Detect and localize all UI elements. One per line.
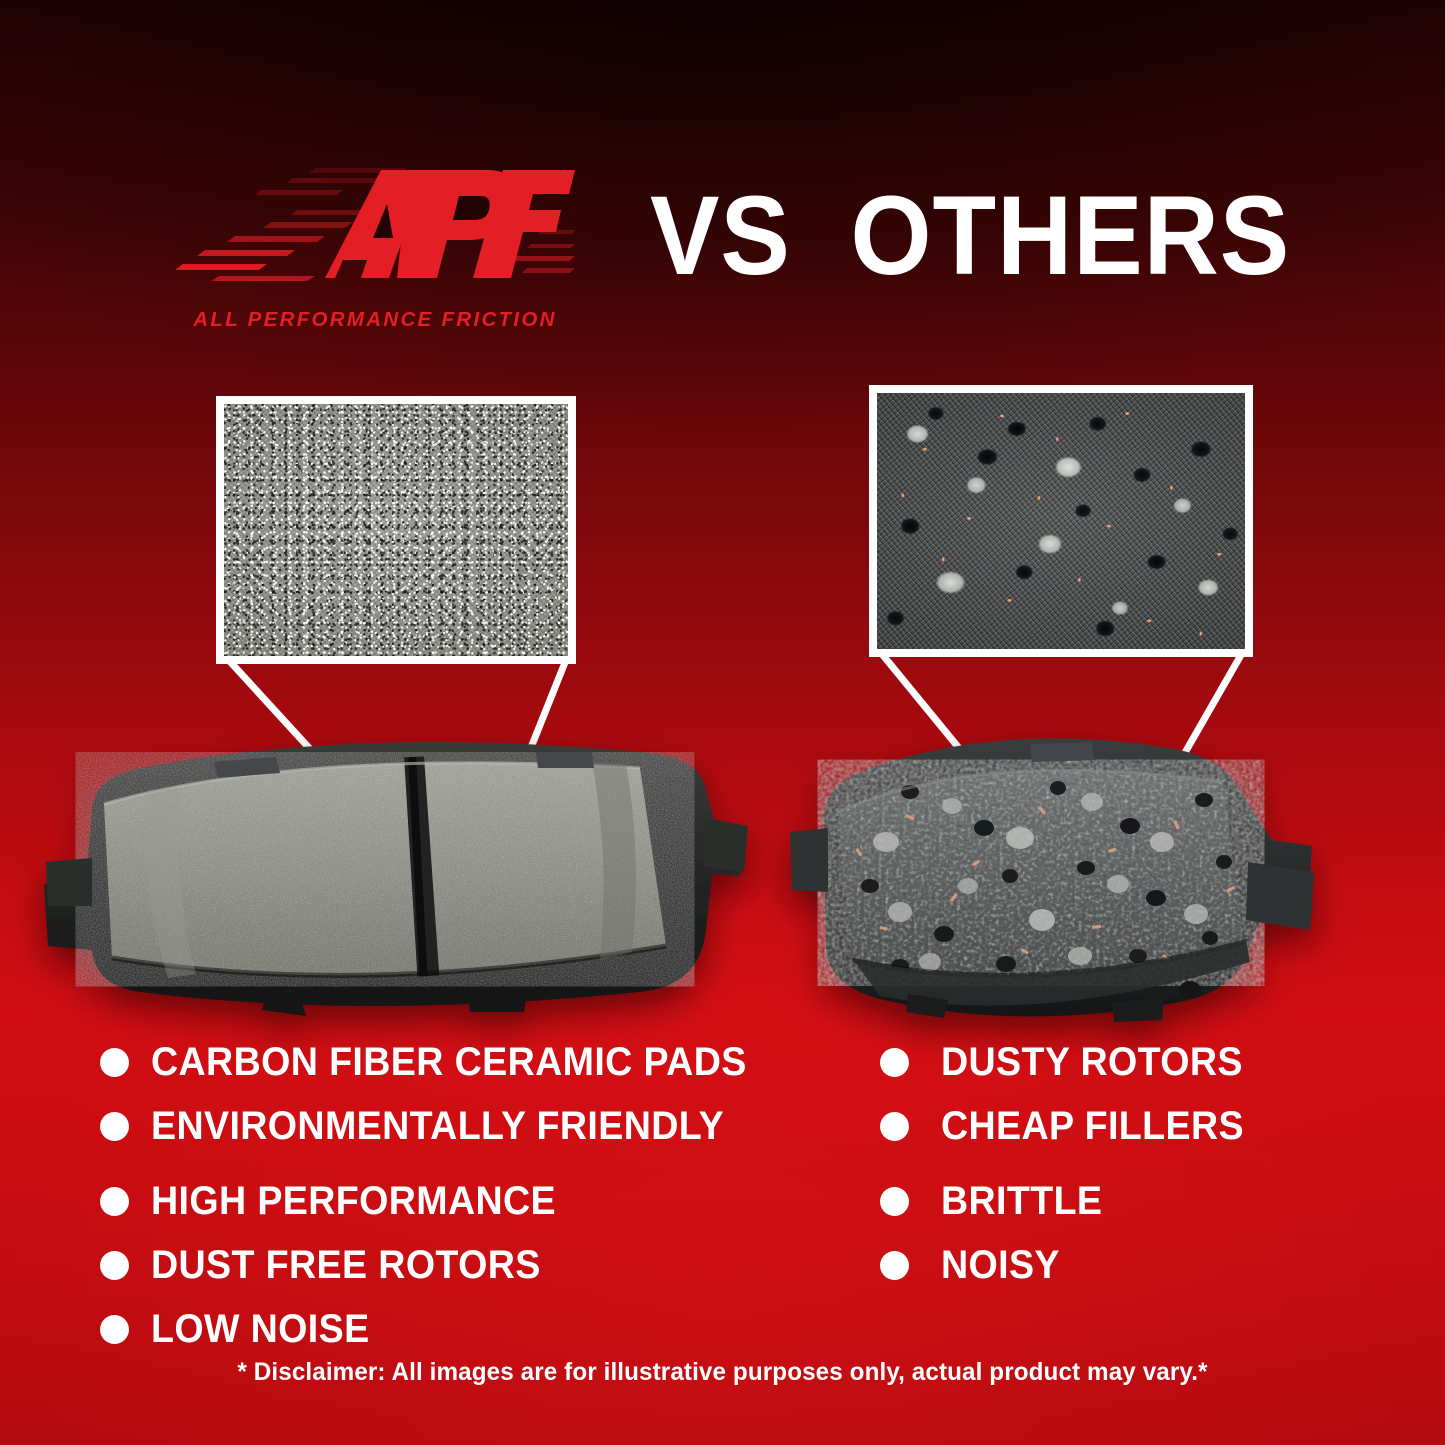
feature-label: DUST FREE ROTORS: [151, 1243, 541, 1288]
feature-list-others: DUSTY ROTORS CHEAP FILLERS BRITTLE NOISY: [880, 1040, 1400, 1307]
pad-others-friction: [838, 770, 1244, 975]
disclaimer-text: * Disclaimer: All images are for illustr…: [22, 1358, 1424, 1387]
list-item: NOISY: [880, 1243, 1400, 1288]
bullet-icon: [880, 1251, 909, 1280]
feature-label: CARBON FIBER CERAMIC PADS: [151, 1040, 747, 1085]
bullet-icon: [100, 1112, 129, 1141]
comparison-infographic: ALL PERFORMANCE FRICTION VS OTHERS: [0, 0, 1445, 1445]
feature-label: BRITTLE: [941, 1179, 1102, 1224]
pad-others: [790, 738, 1314, 1022]
feature-lists: CARBON FIBER CERAMIC PADS ENVIRONMENTALL…: [0, 1040, 1445, 1380]
feature-label: HIGH PERFORMANCE: [151, 1179, 556, 1224]
bullet-icon: [100, 1048, 129, 1077]
list-item: CARBON FIBER CERAMIC PADS: [100, 1040, 820, 1085]
feature-label: ENVIRONMENTALLY FRIENDLY: [151, 1104, 724, 1149]
bullet-icon: [100, 1251, 129, 1280]
bullet-icon: [880, 1187, 909, 1216]
list-item: DUSTY ROTORS: [880, 1040, 1400, 1085]
pad-apf-tab-right: [536, 752, 594, 768]
feature-list-apf: CARBON FIBER CERAMIC PADS ENVIRONMENTALL…: [100, 1040, 820, 1371]
pad-apf: [44, 742, 748, 1016]
bullet-icon: [880, 1048, 909, 1077]
list-item: ENVIRONMENTALLY FRIENDLY: [100, 1104, 820, 1149]
feature-label: LOW NOISE: [151, 1307, 370, 1352]
bullet-icon: [880, 1112, 909, 1141]
feature-label: NOISY: [941, 1243, 1060, 1288]
bullet-icon: [100, 1187, 129, 1216]
list-item: HIGH PERFORMANCE: [100, 1179, 820, 1224]
list-item: CHEAP FILLERS: [880, 1104, 1400, 1149]
feature-label: CHEAP FILLERS: [941, 1104, 1244, 1149]
list-item: BRITTLE: [880, 1179, 1400, 1224]
feature-label: DUSTY ROTORS: [941, 1040, 1243, 1085]
bullet-icon: [100, 1315, 129, 1344]
pad-others-tab: [1030, 742, 1094, 762]
list-item: DUST FREE ROTORS: [100, 1243, 820, 1288]
list-item: LOW NOISE: [100, 1307, 820, 1352]
